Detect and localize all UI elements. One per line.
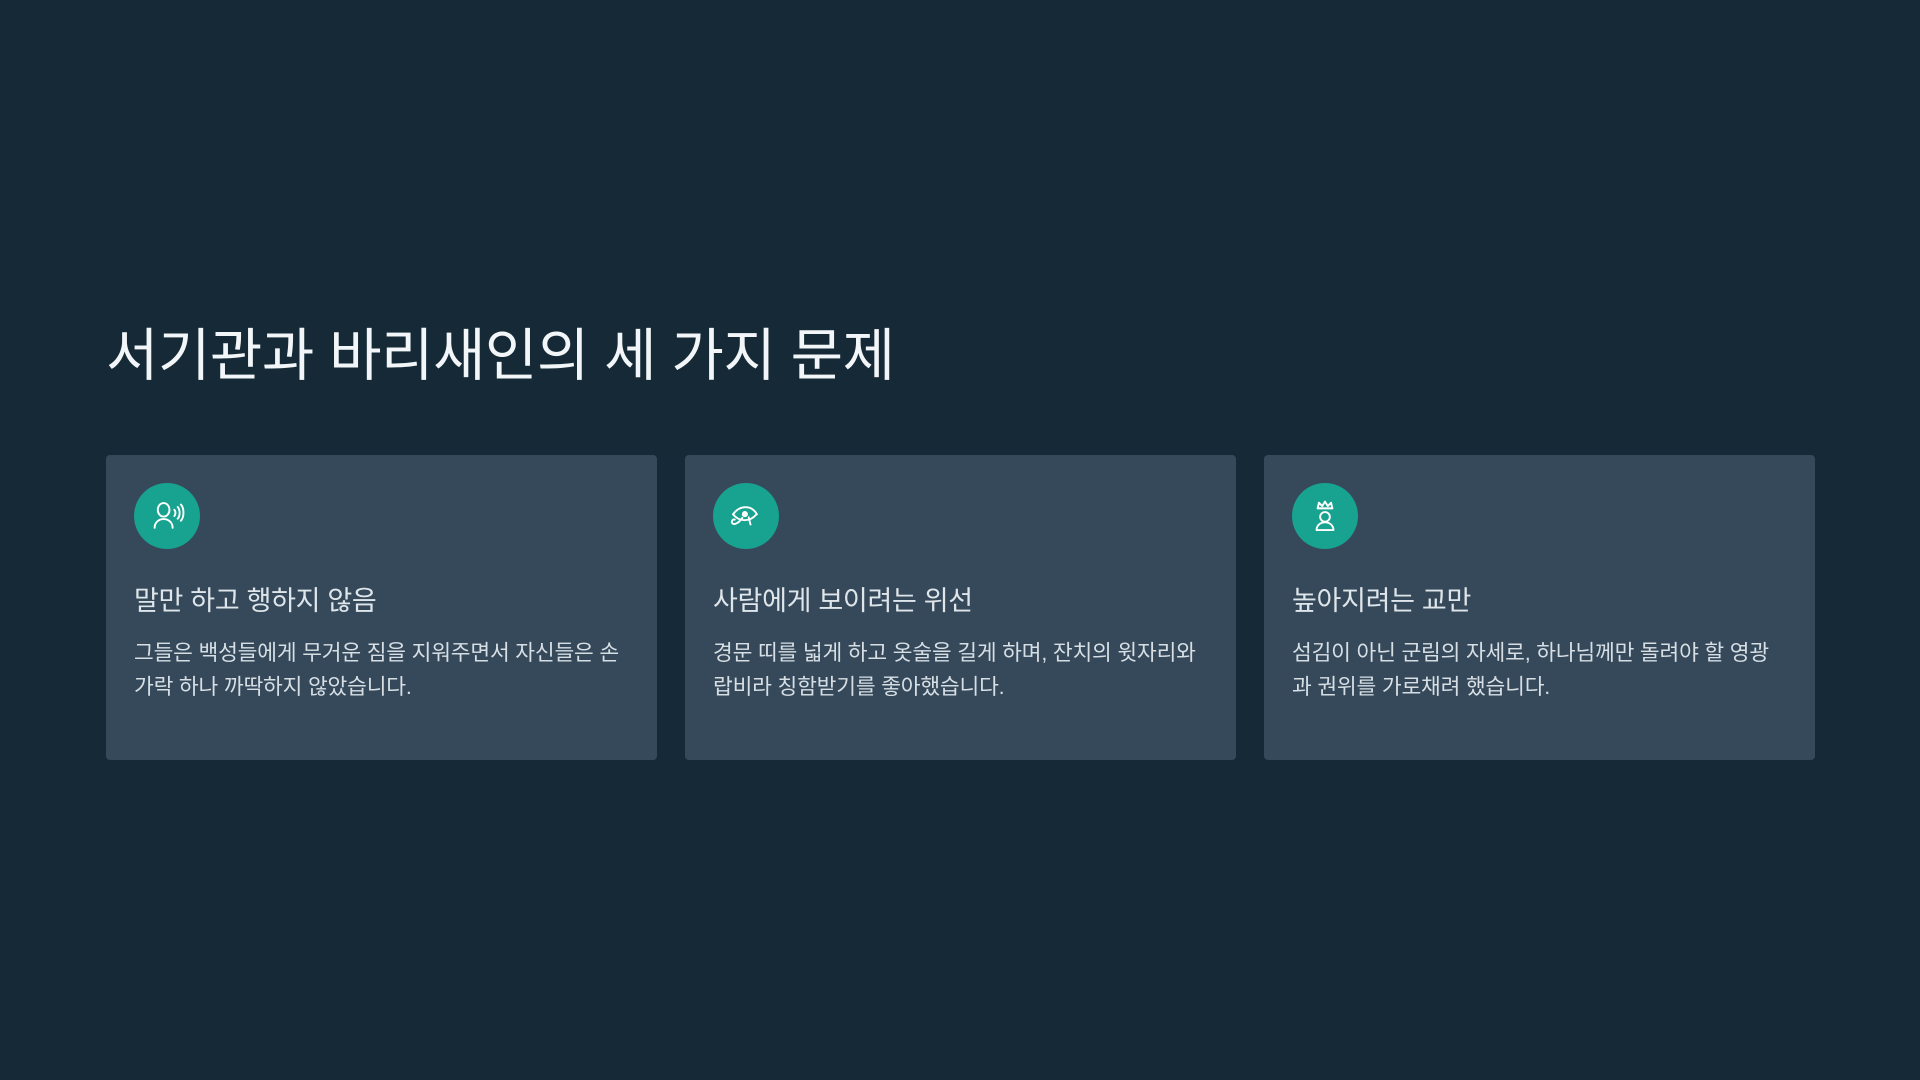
card-item[interactable]: 높아지려는 교만 섬김이 아닌 군림의 자세로, 하나님께만 돌려야 할 영광과… [1264,455,1815,760]
card-list: 말만 하고 행하지 않음 그들은 백성들에게 무거운 짐을 지워주면서 자신들은… [106,455,1816,760]
card-body: 경문 띠를 넓게 하고 옷술을 길게 하며, 잔치의 윗자리와 랍비라 칭함받기… [713,637,1208,705]
card-item[interactable]: 말만 하고 행하지 않음 그들은 백성들에게 무거운 짐을 지워주면서 자신들은… [106,455,657,760]
page-title: 서기관과 바리새인의 세 가지 문제 [106,322,895,390]
card-item[interactable]: 사람에게 보이려는 위선 경문 띠를 넓게 하고 옷술을 길게 하며, 잔치의 … [685,455,1236,760]
card-title: 말만 하고 행하지 않음 [134,585,629,619]
crowned-person-icon [1292,483,1358,549]
card-title: 높아지려는 교만 [1292,585,1787,619]
card-body: 그들은 백성들에게 무거운 짐을 지워주면서 자신들은 손가락 하나 까딱하지 … [134,637,629,705]
card-body: 섬김이 아닌 군림의 자세로, 하나님께만 돌려야 할 영광과 권위를 가로채려… [1292,637,1787,705]
person-speaking-icon [134,483,200,549]
slide-root: 서기관과 바리새인의 세 가지 문제 말만 하고 행하지 않음 그들은 백성들에… [0,0,1920,1080]
eye-of-horus-icon [713,483,779,549]
card-title: 사람에게 보이려는 위선 [713,585,1208,619]
